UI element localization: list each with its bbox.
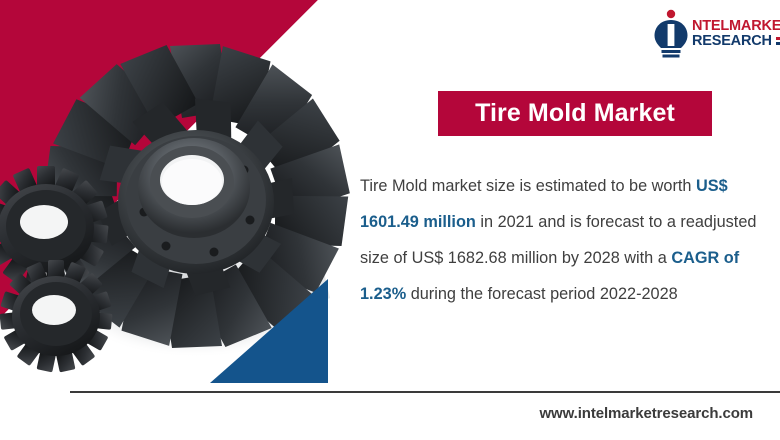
brand-logo[interactable]: NTELMARKET RESEARCH	[652, 6, 776, 62]
page-title: Tire Mold Market	[475, 99, 675, 128]
market-summary-paragraph: Tire Mold market size is estimated to be…	[360, 168, 760, 312]
brand-logo-text: NTELMARKET RESEARCH	[692, 19, 780, 49]
brand-name-part1: NTELMARKET	[692, 19, 780, 34]
red-diagonal-panel	[0, 0, 400, 440]
logo-bars-icon	[776, 37, 780, 46]
footer-website-url[interactable]: www.intelmarketresearch.com	[539, 405, 753, 422]
brand-name-part2: RESEARCH	[692, 34, 772, 49]
page-title-banner: Tire Mold Market	[438, 91, 712, 136]
infographic-canvas: NTELMARKET RESEARCH Tire Mold Market Tir…	[0, 0, 780, 440]
paragraph-segment-3: during the forecast period 2022-2028	[406, 285, 678, 303]
blue-triangle-accent	[210, 279, 328, 383]
lightbulb-icon	[652, 9, 690, 59]
footer-divider	[70, 391, 780, 393]
paragraph-segment-1: Tire Mold market size is estimated to be…	[360, 177, 696, 195]
